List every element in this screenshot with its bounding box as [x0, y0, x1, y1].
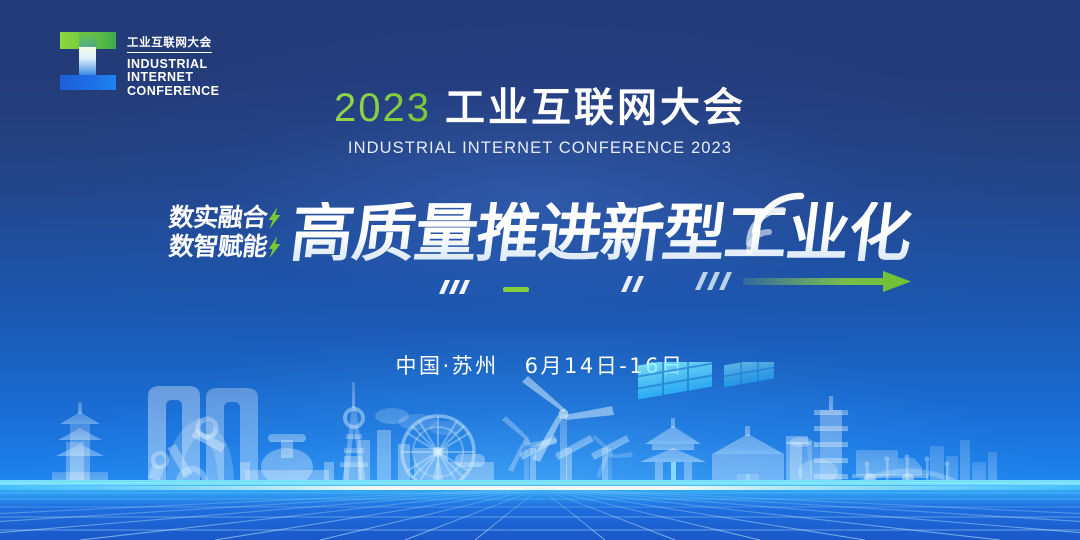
- logo-en-line-2: INTERNET: [127, 71, 220, 84]
- main-slogan-inner: 数实融合 数智赋能 高质量推进新型工业化: [130, 178, 950, 288]
- slogan-secondary-text-1: 数实融合: [168, 205, 269, 230]
- title-year: 2023: [334, 88, 431, 128]
- title-block: 2023 工业互联网大会 INDUSTRIAL INTERNET CONFERE…: [0, 88, 1080, 158]
- conference-logo-mark-icon: [58, 30, 118, 92]
- lightning-bolt-icon: [268, 207, 282, 229]
- storage-tanks-icon: [790, 437, 844, 485]
- slogan-primary: 高质量推进新型工业化: [287, 202, 915, 265]
- main-slogan: 数实融合 数智赋能 高质量推进新型工业化: [0, 178, 1080, 288]
- slogan-secondary-line-1: 数实融合: [168, 205, 282, 230]
- solar-panels-icon: [724, 362, 774, 486]
- conference-banner: 工业互联网大会 INDUSTRIAL INTERNET CONFERENCE 2…: [0, 0, 1080, 540]
- ferris-wheel-icon: [402, 416, 474, 488]
- slogan-secondary-text-2: 数智赋能: [168, 234, 269, 259]
- gate-of-the-orient-icon: [148, 386, 258, 484]
- perspective-ground-grid: [0, 480, 1080, 540]
- slogan-secondary: 数实融合 数智赋能: [169, 205, 280, 261]
- wind-turbine-icon: [592, 435, 633, 484]
- title-subtitle: INDUSTRIAL INTERNET CONFERENCE 2023: [0, 139, 1080, 158]
- speed-lines-accent-icon: [621, 276, 655, 294]
- logo-en-line-1: INDUSTRIAL: [127, 58, 220, 71]
- slogan-secondary-line-2: 数智赋能: [168, 234, 282, 259]
- logo-cn-name: 工业互联网大会: [127, 38, 212, 53]
- lightning-bolt-icon: [268, 236, 282, 258]
- green-arrow-accent-icon: [743, 268, 923, 298]
- speed-lines-accent-icon: [695, 272, 735, 292]
- solar-panels-icon: [638, 362, 712, 486]
- small-pagoda-icon: [52, 402, 108, 484]
- title-cn: 工业互联网大会: [445, 88, 746, 128]
- green-underline-accent-icon: [503, 286, 529, 294]
- title-row: 2023 工业互联网大会: [0, 88, 1080, 128]
- speed-lines-accent-icon: [439, 280, 479, 296]
- wind-turbine-icon: [502, 416, 557, 484]
- radio-tower-icon: [340, 382, 368, 484]
